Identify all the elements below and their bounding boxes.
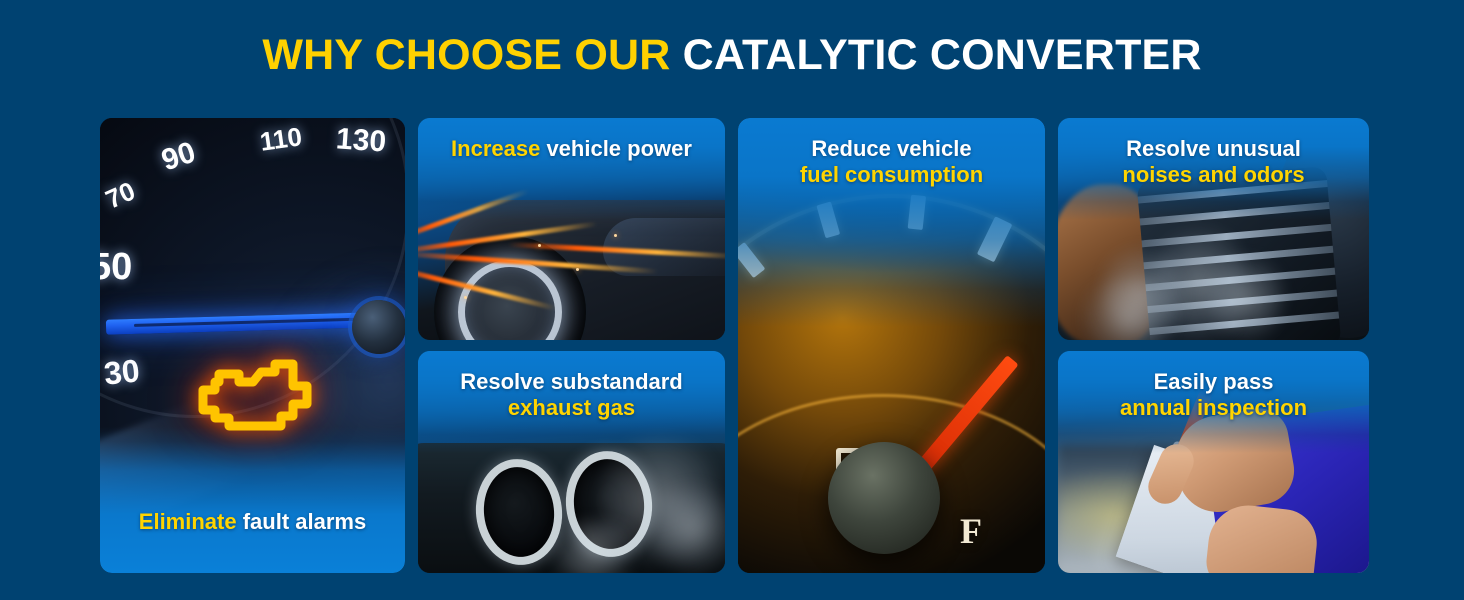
page-title-plain: CATALYTIC CONVERTER (683, 34, 1202, 77)
fuel-gauge-full-label: F (960, 510, 982, 552)
feature-panel-eliminate-fault-alarms[interactable]: 90 110 130 70 50 30 Eliminate fault alar… (100, 118, 405, 573)
caption-plain: Resolve unusual (1126, 136, 1301, 161)
check-engine-icon (195, 356, 323, 438)
panel-caption: Easily pass annual inspection (1058, 369, 1369, 420)
feature-panel-resolve-noises-odors[interactable]: Resolve unusual noises and odors (1058, 118, 1369, 340)
caption-accent: exhaust gas (508, 395, 635, 420)
caption-plain: Resolve substandard (460, 369, 683, 394)
feature-panels-grid: 90 110 130 70 50 30 Eliminate fault alar… (100, 118, 1364, 573)
speedometer-numeral: 50 (100, 246, 132, 289)
speedometer-numeral: 30 (102, 352, 141, 393)
fuel-gauge-hub (828, 442, 940, 554)
caption-plain: fault alarms (243, 509, 367, 534)
speedometer-numeral: 110 (258, 121, 304, 158)
feature-panel-resolve-exhaust-gas[interactable]: Resolve substandard exhaust gas (418, 351, 725, 573)
panel-caption: Increase vehicle power (418, 136, 725, 162)
caption-accent: annual inspection (1120, 395, 1307, 420)
page-title-accent: WHY CHOOSE OUR (262, 34, 682, 77)
caption-accent: Eliminate (139, 509, 243, 534)
caption-accent: noises and odors (1122, 162, 1304, 187)
panel-caption: Eliminate fault alarms (100, 509, 405, 535)
speedometer-numeral: 130 (335, 122, 387, 159)
panel-caption: Resolve unusual noises and odors (1058, 136, 1369, 187)
caption-scrim (100, 427, 405, 573)
caption-plain: vehicle power (546, 136, 692, 161)
caption-plain: Easily pass (1154, 369, 1274, 394)
feature-panel-increase-vehicle-power[interactable]: Increase vehicle power (418, 118, 725, 340)
page-title: WHY CHOOSE OUR CATALYTIC CONVERTER (0, 0, 1464, 110)
feature-panel-reduce-fuel-consumption[interactable]: F Reduce vehicle fuel consumption (738, 118, 1045, 573)
panel-caption: Resolve substandard exhaust gas (418, 369, 725, 420)
speedometer-hub (352, 300, 405, 354)
feature-panel-easily-pass-inspection[interactable]: Easily pass annual inspection (1058, 351, 1369, 573)
caption-scrim (418, 118, 725, 220)
caption-plain: Reduce vehicle (811, 136, 971, 161)
caption-accent: fuel consumption (800, 162, 983, 187)
caption-accent: Increase (451, 136, 546, 161)
panel-caption: Reduce vehicle fuel consumption (738, 136, 1045, 187)
